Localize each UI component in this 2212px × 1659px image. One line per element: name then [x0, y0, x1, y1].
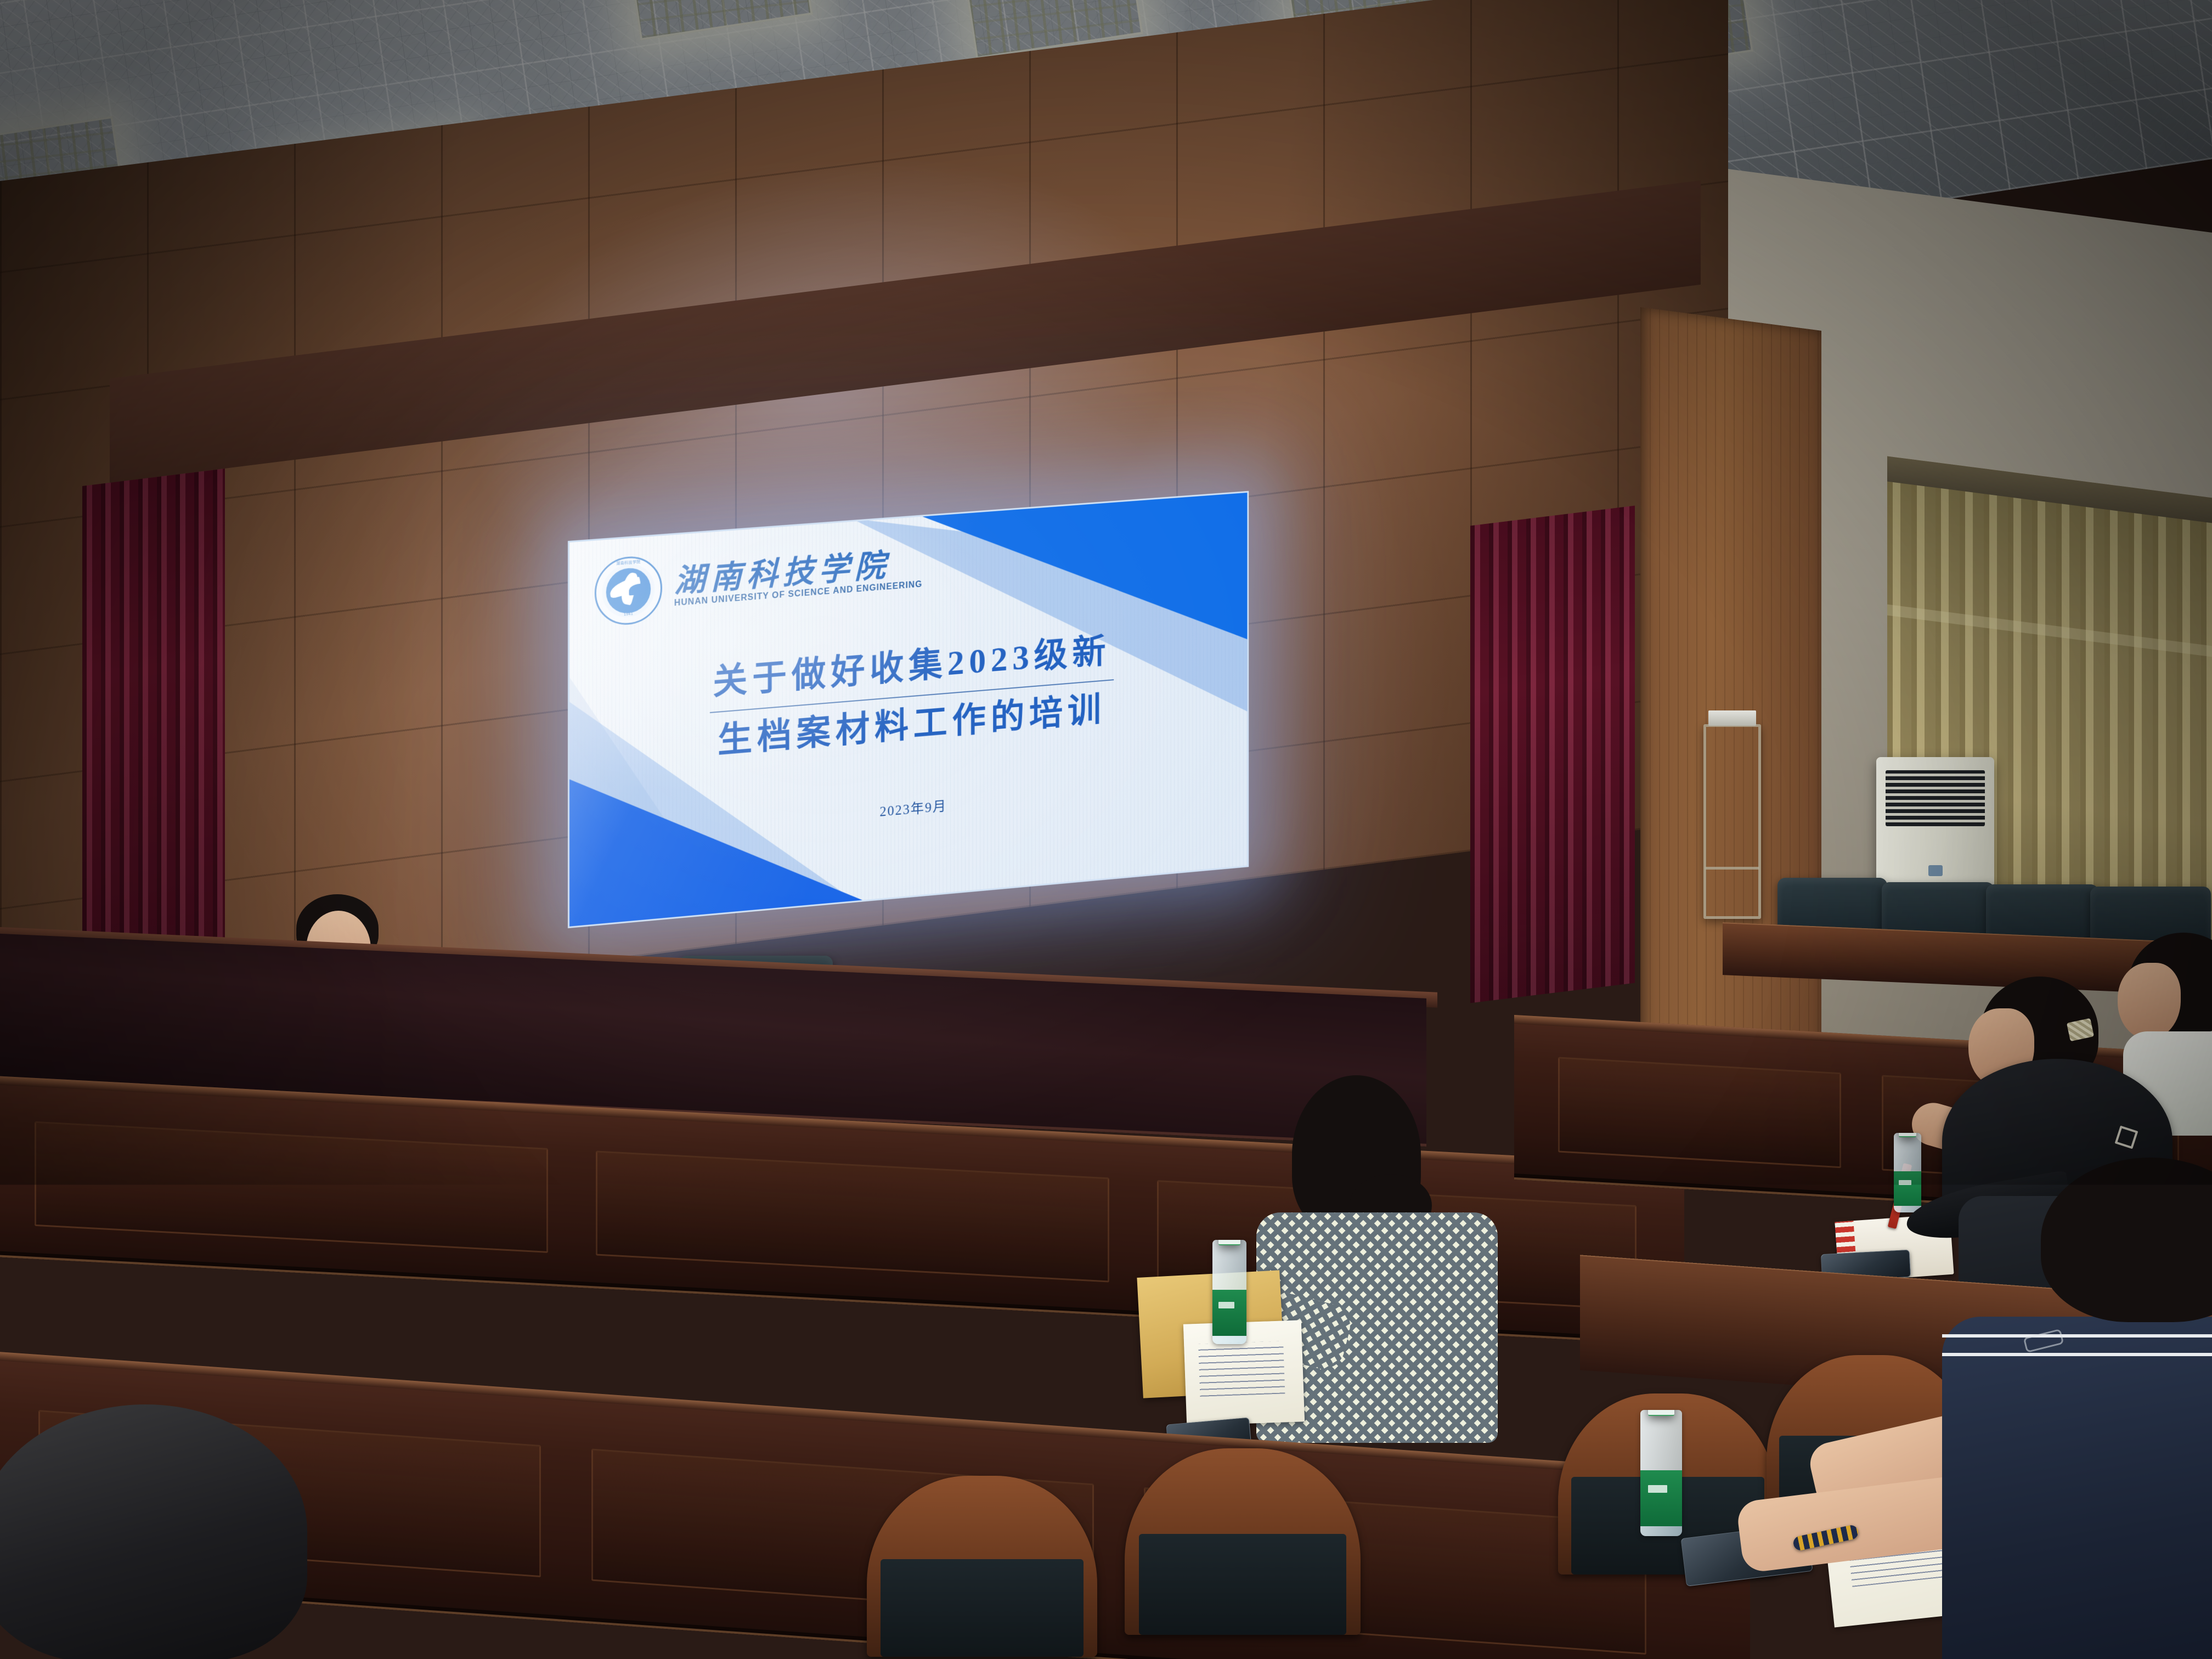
cap-emblem-icon: [2114, 1126, 2138, 1149]
university-logo-icon: 湖南科技学院 1941: [595, 554, 662, 627]
slide-title-block: 关于做好收集2023级新 生档案材料工作的培训: [569, 619, 1247, 774]
polo-stripe: [1942, 1334, 2212, 1338]
desk-front-panel: [596, 1151, 1109, 1283]
conference-room-photo: 湖南科技学院 1941 湖南科技学院 HUNAN UNIVERSITY OF S…: [0, 0, 2212, 1659]
logo-ring-top-label: 湖南科技学院: [595, 557, 662, 568]
slide-date: 2023年9月: [569, 770, 1247, 848]
desk-front-panel: [1558, 1057, 1841, 1168]
metal-display-stand: [1703, 724, 1761, 919]
ac-vent-grill: [1886, 770, 1985, 826]
stand-crossbar: [1705, 867, 1759, 870]
wood-grain: [1640, 307, 1821, 1110]
bottle-label: [1212, 1290, 1246, 1336]
attendee-far-right-head: [2118, 963, 2181, 1040]
desk-front-panel: [35, 1121, 548, 1253]
polo-stripe: [1942, 1353, 2212, 1356]
projection-screen[interactable]: 湖南科技学院 1941 湖南科技学院 HUNAN UNIVERSITY OF S…: [568, 491, 1249, 928]
attendee-center-water-bottle[interactable]: [1212, 1240, 1246, 1344]
curtain-tie-line: [1887, 605, 2212, 658]
university-name-block: 湖南科技学院 HUNAN UNIVERSITY OF SCIENCE AND E…: [674, 548, 923, 609]
ac-brand-logo-icon: [1928, 865, 1943, 876]
slide-content: 湖南科技学院 1941 湖南科技学院 HUNAN UNIVERSITY OF S…: [569, 493, 1247, 927]
bottle-cap: [1218, 1240, 1240, 1245]
wood-wall-column: [1640, 307, 1821, 1110]
stage-curtain-right: [1470, 506, 1635, 1003]
stand-top-box: [1708, 710, 1756, 726]
